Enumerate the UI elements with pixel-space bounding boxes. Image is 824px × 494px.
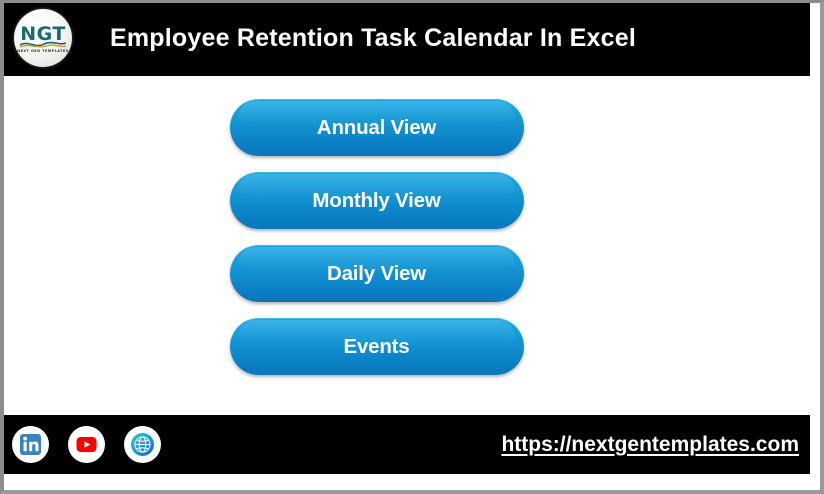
daily-view-button-label: Daily View xyxy=(327,262,426,286)
footer-bar: https://nextgentemplates.com xyxy=(0,415,810,474)
website-globe-icon[interactable] xyxy=(124,426,161,463)
social-links xyxy=(12,415,161,474)
annual-view-button-label: Annual View xyxy=(317,116,436,140)
youtube-icon[interactable] xyxy=(68,426,105,463)
events-button-label: Events xyxy=(343,335,409,359)
navigation-button-stack: Annual View Monthly View Daily View Even… xyxy=(4,99,749,375)
ngt-logo: NGT NEXT GEN TEMPLATES xyxy=(14,9,72,67)
logo-tagline: NEXT GEN TEMPLATES xyxy=(17,49,68,53)
annual-view-button[interactable]: Annual View xyxy=(230,99,524,156)
monthly-view-button-label: Monthly View xyxy=(312,189,440,213)
website-url-link[interactable]: https://nextgentemplates.com xyxy=(501,415,799,474)
header-bar: NGT NEXT GEN TEMPLATES Employee Retentio… xyxy=(0,0,810,76)
logo-monogram: NGT xyxy=(20,25,66,44)
page-title: Employee Retention Task Calendar In Exce… xyxy=(110,0,636,76)
monthly-view-button[interactable]: Monthly View xyxy=(230,172,524,229)
events-button[interactable]: Events xyxy=(230,318,524,375)
template-window: NGT NEXT GEN TEMPLATES Employee Retentio… xyxy=(0,0,824,494)
main-content: Annual View Monthly View Daily View Even… xyxy=(4,79,820,415)
bottom-white-strip xyxy=(0,474,816,494)
daily-view-button[interactable]: Daily View xyxy=(230,245,524,302)
linkedin-icon[interactable] xyxy=(12,426,49,463)
